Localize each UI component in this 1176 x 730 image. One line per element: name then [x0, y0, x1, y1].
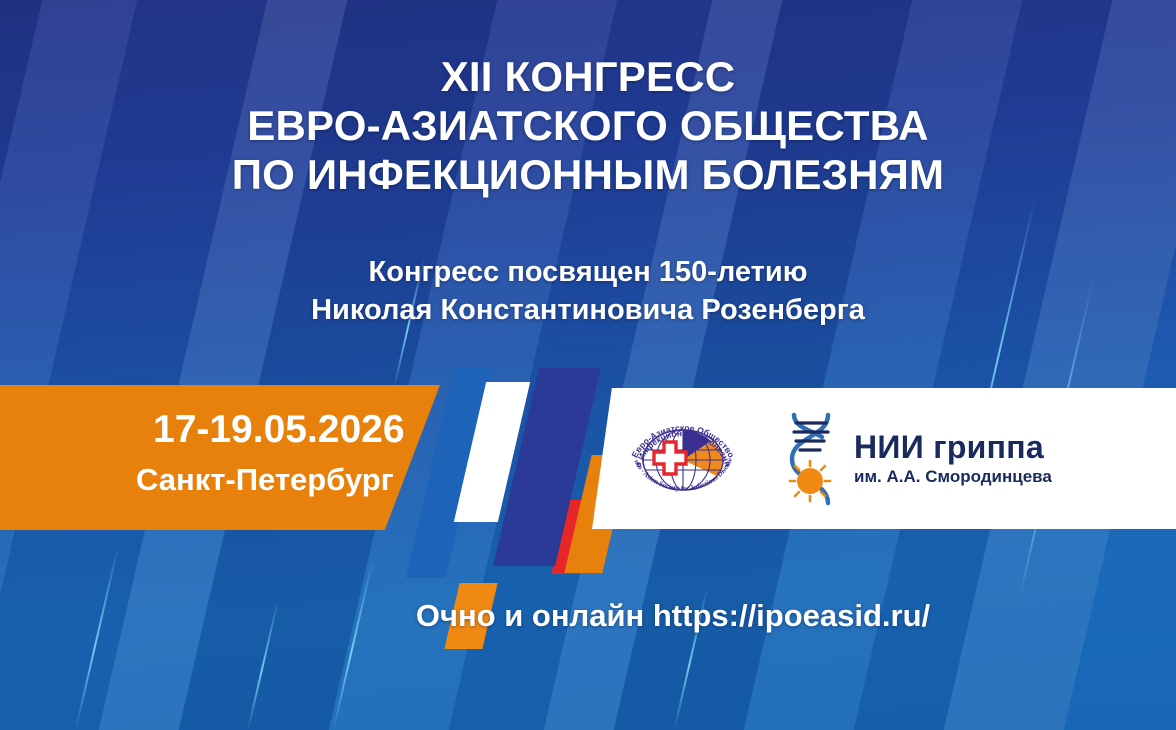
title-line-2: ЕВРО-АЗИАТСКОГО ОБЩЕСТВА: [0, 101, 1176, 150]
virus-icon: [790, 461, 830, 501]
congress-banner: XII КОНГРЕСС ЕВРО-АЗИАТСКОГО ОБЩЕСТВА ПО…: [0, 0, 1176, 730]
title-line-1: XII КОНГРЕСС: [0, 52, 1176, 101]
footer-url-text[interactable]: Очно и онлайн https://ipoeasid.ru/: [246, 598, 930, 633]
bg-hairline: [75, 545, 120, 730]
subtitle-line-1: Конгресс посвящен 150-летию: [0, 253, 1176, 291]
subtitle: Конгресс посвящен 150-летию Николая Конс…: [0, 253, 1176, 329]
nii-text-block: НИИ гриппа им. А.А. Смородинцева: [854, 430, 1052, 488]
footer-url[interactable]: Очно и онлайн https://ipoeasid.ru/: [0, 598, 1176, 634]
event-date: 17-19.05.2026: [153, 408, 405, 452]
subtitle-line-2: Николая Константиновича Розенберга: [0, 291, 1176, 329]
nii-subtitle: им. А.А. Смородинцева: [854, 466, 1052, 488]
bg-hairline: [332, 560, 373, 730]
dna-helix-icon: [782, 411, 844, 507]
title-line-3: ПО ИНФЕКЦИОННЫМ БОЛЕЗНЯМ: [0, 150, 1176, 199]
date-panel: [0, 385, 440, 530]
logo-band: Евро-Азиатское Общество по Инфекционным …: [592, 388, 1176, 529]
nii-title: НИИ гриппа: [854, 430, 1052, 464]
easid-logo: Евро-Азиатское Общество по Инфекционным …: [624, 400, 742, 518]
event-city: Санкт-Петербург: [136, 461, 394, 499]
page-title: XII КОНГРЕСС ЕВРО-АЗИАТСКОГО ОБЩЕСТВА ПО…: [0, 52, 1176, 199]
globe-emblem-icon: Евро-Азиатское Общество по Инфекционным …: [624, 400, 742, 518]
nii-grippa-logo: НИИ гриппа им. А.А. Смородинцева: [782, 411, 1052, 507]
